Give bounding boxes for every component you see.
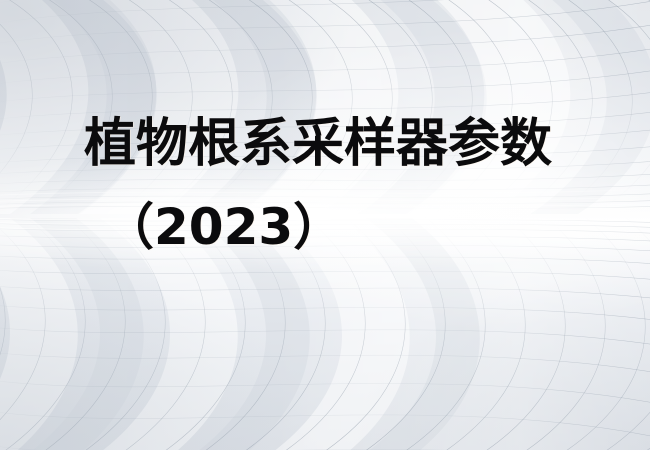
slide-title-block: 植物根系采样器参数 （2023）	[0, 118, 650, 262]
slide-title-line-2: （2023）	[0, 202, 650, 262]
title-slide: 植物根系采样器参数 （2023）	[0, 0, 650, 450]
slide-title-line-1: 植物根系采样器参数	[0, 118, 650, 180]
